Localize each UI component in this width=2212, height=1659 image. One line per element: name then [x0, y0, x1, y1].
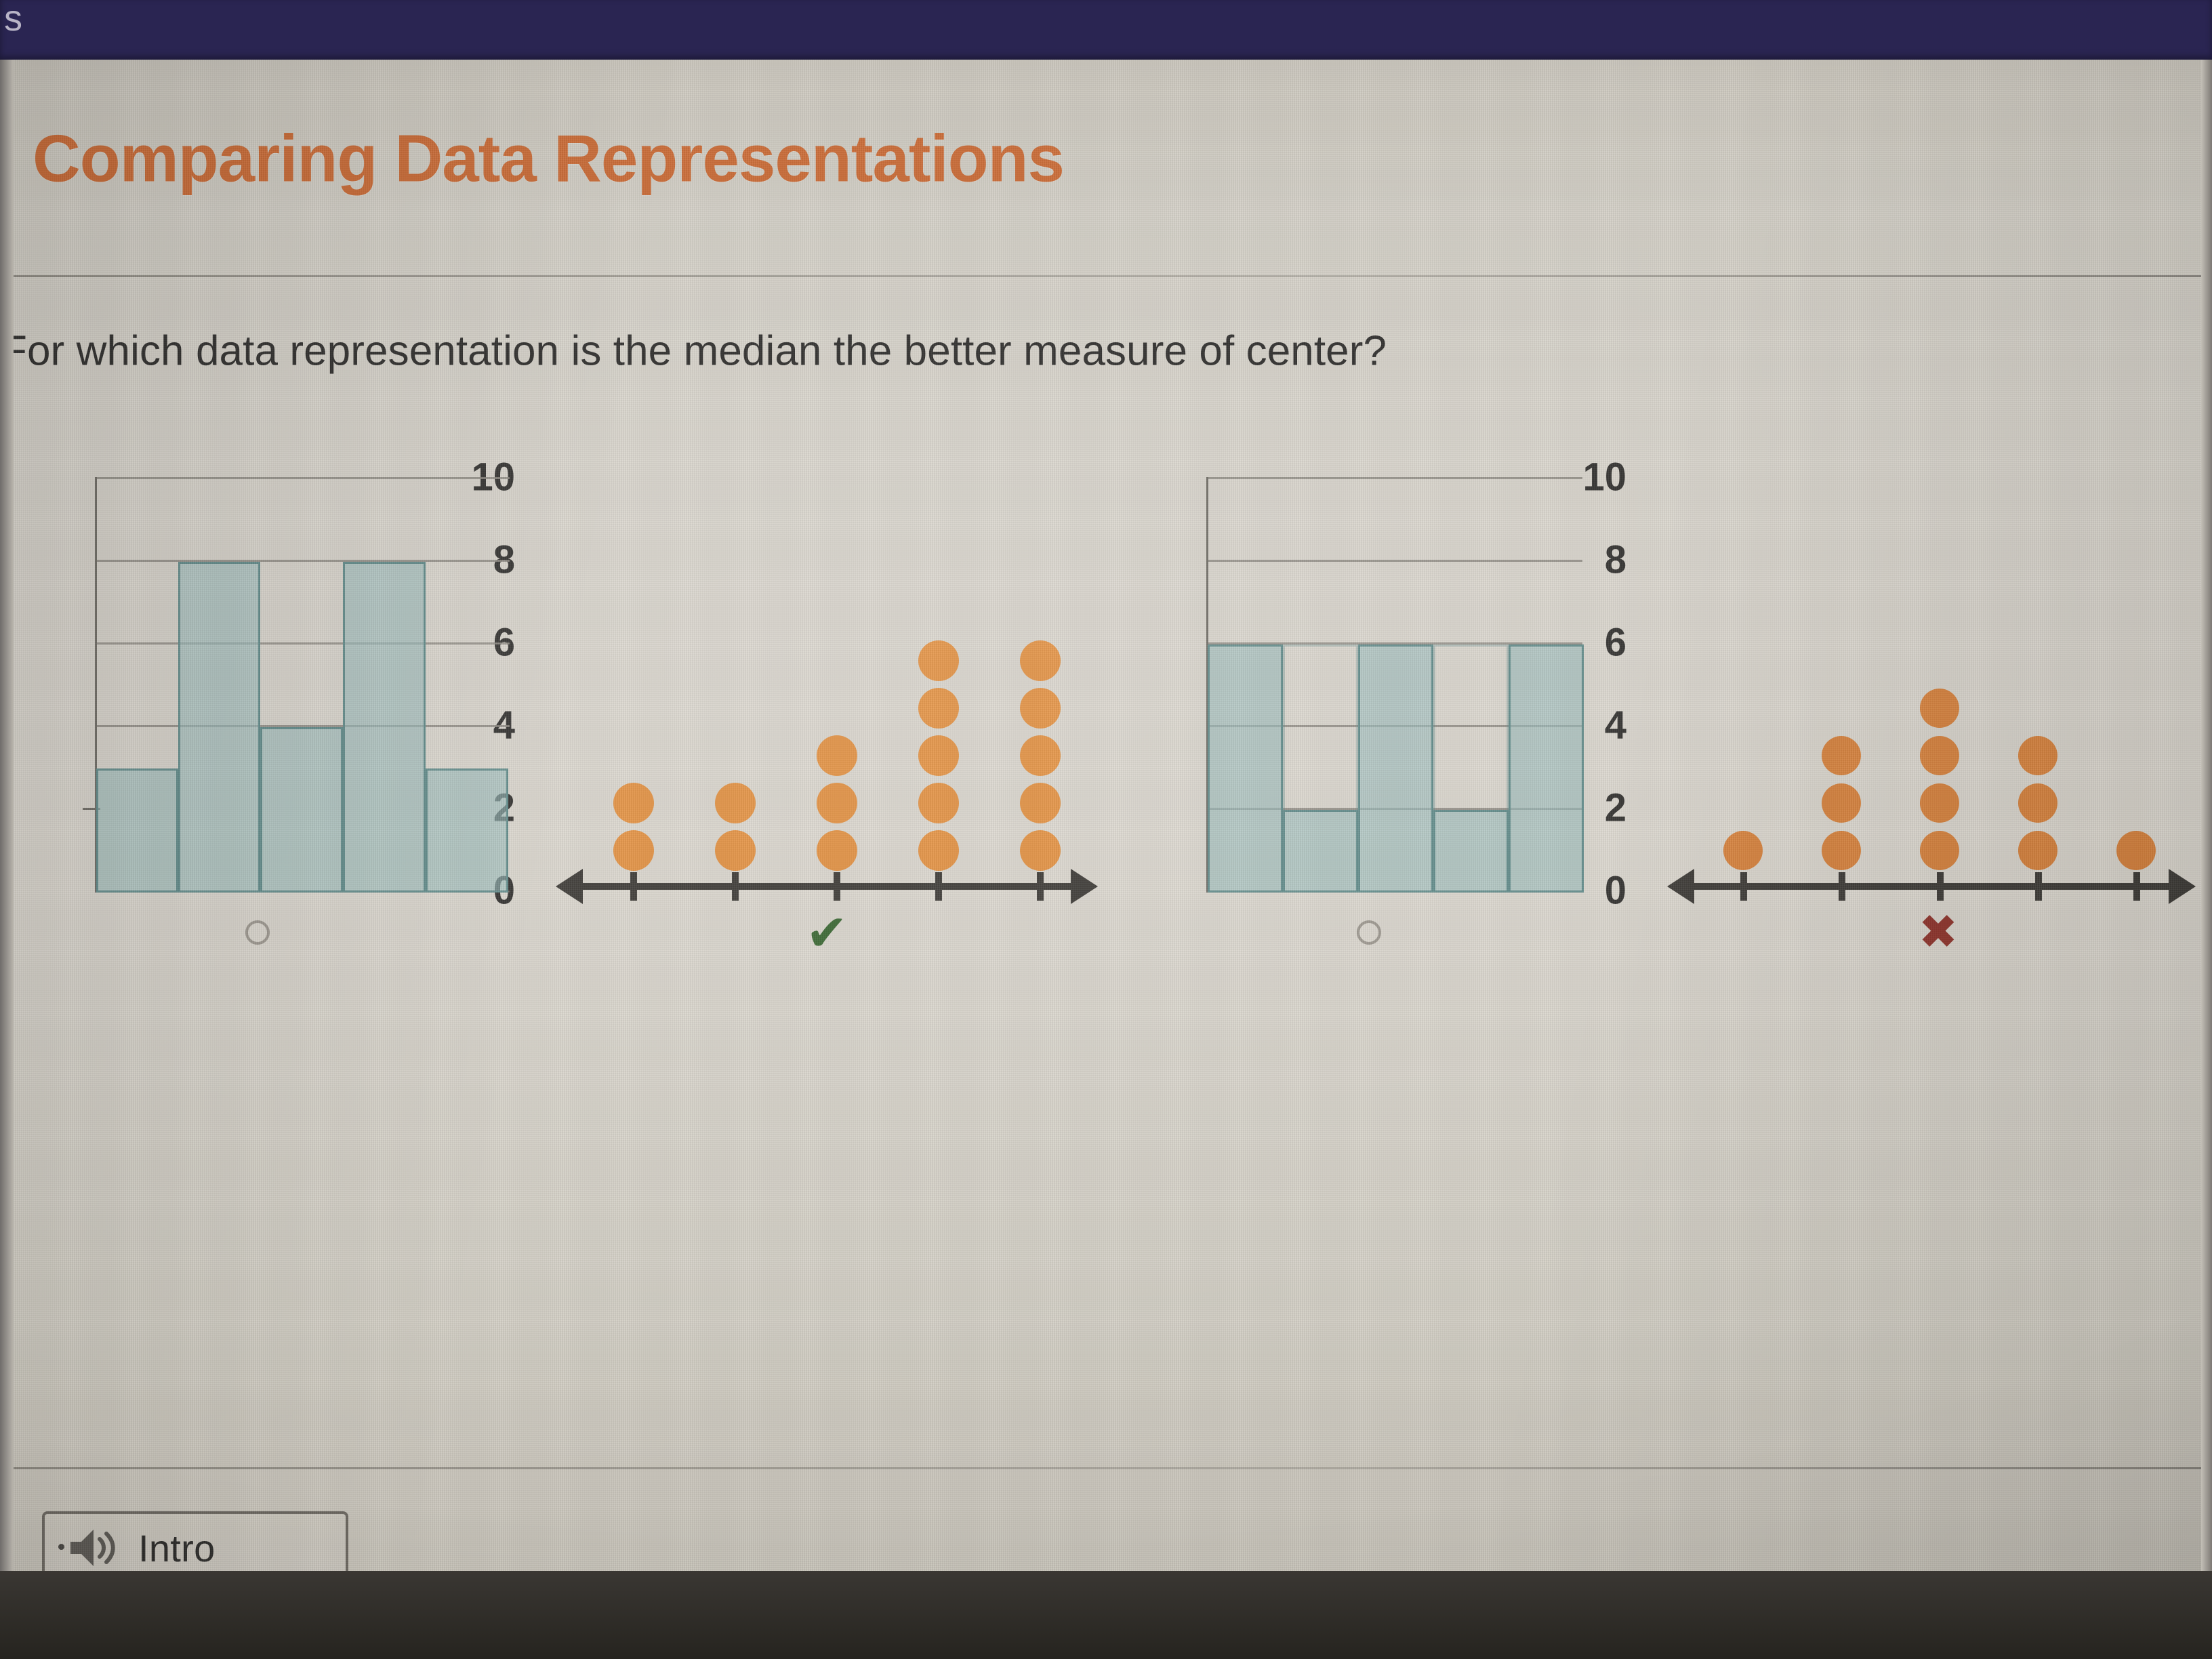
dot	[1822, 783, 1861, 823]
dot	[1020, 688, 1061, 729]
dot	[715, 830, 756, 871]
intro-button-focus-dot	[58, 1544, 64, 1550]
top-bar-glyph: s	[4, 0, 22, 39]
answer-option-histogram-2[interactable]: 10 8 6 4 2 0	[1111, 439, 1626, 1036]
histogram-bar-5	[426, 769, 508, 893]
number-line-tick-2	[732, 872, 739, 901]
dot	[1020, 783, 1061, 823]
number-line-tick-4	[2035, 872, 2042, 901]
dot	[2018, 736, 2057, 775]
histogram-bar-4	[343, 562, 426, 893]
dot	[817, 830, 857, 871]
option-marker-3[interactable]	[1111, 920, 1626, 948]
lesson-page: Comparing Data Representations For which…	[0, 60, 2212, 1571]
left-screen-edge	[0, 60, 14, 1571]
number-line-tick-4	[935, 872, 942, 901]
dot	[613, 783, 654, 823]
answer-option-dotplot-2[interactable]: ✖	[1667, 439, 2209, 1036]
option-marker-1[interactable]	[0, 920, 515, 948]
bottom-screen-bezel	[0, 1571, 2212, 1659]
dot	[1723, 831, 1763, 870]
question-text: For which data representation is the med…	[1, 327, 1387, 375]
histogram-bar-3	[260, 727, 343, 893]
dot	[2116, 831, 2156, 870]
gridline-6	[95, 642, 510, 644]
histogram-bar-2	[1283, 810, 1358, 893]
dot	[1822, 831, 1861, 870]
gridline-10	[95, 477, 510, 479]
dot	[1920, 783, 1959, 823]
gridline-10	[1206, 477, 1582, 479]
number-line-tick-3	[1937, 872, 1944, 901]
number-line-arrow-left	[556, 869, 583, 904]
dot	[2018, 831, 2057, 870]
dot	[613, 830, 654, 871]
dot	[817, 783, 857, 823]
number-line	[583, 883, 1071, 890]
photographed-screen: s Comparing Data Representations For whi…	[0, 0, 2212, 1659]
dot	[918, 735, 959, 776]
dot	[1920, 689, 1959, 728]
number-line-tick-2	[1839, 872, 1845, 901]
dot	[918, 640, 959, 681]
speaker-icon	[68, 1525, 121, 1570]
number-line-tick-5	[1037, 872, 1044, 901]
radio-button-icon[interactable]	[1357, 920, 1381, 945]
histogram-bar-1	[96, 769, 178, 893]
histogram-bar-3	[1358, 644, 1433, 893]
dot	[1020, 640, 1061, 681]
dot	[715, 783, 756, 823]
divider-under-title	[0, 275, 2212, 277]
title-bar: Comparing Data Representations	[0, 60, 2212, 217]
dot	[918, 783, 959, 823]
gridline-8	[1206, 560, 1582, 562]
number-line-tick-1	[1740, 872, 1747, 901]
number-line-arrow-right	[2169, 869, 2196, 904]
dot	[918, 688, 959, 729]
dot	[1920, 736, 1959, 775]
answer-option-histogram-1[interactable]: 10 8 6 4 2 0	[0, 439, 515, 1036]
option-marker-2[interactable]: ✔	[556, 908, 1098, 958]
dot	[1822, 736, 1861, 775]
number-line-tick-3	[834, 872, 840, 901]
right-screen-edge	[2201, 60, 2212, 1571]
histogram-bar-1	[1208, 644, 1283, 893]
number-line-arrow-right	[1071, 869, 1098, 904]
dotplot-1	[556, 439, 1098, 914]
dot	[1920, 831, 1959, 870]
option-marker-4[interactable]: ✖	[1667, 908, 2212, 956]
dot	[918, 830, 959, 871]
histogram-bar-4	[1433, 810, 1509, 893]
dot	[1020, 735, 1061, 776]
histogram-2: 10 8 6 4 2 0	[1111, 439, 1626, 914]
number-line-tick-5	[2133, 872, 2140, 901]
histogram-bar-2	[178, 562, 260, 893]
number-line-arrow-left	[1667, 869, 1694, 904]
answer-option-dotplot-1[interactable]: ✔	[556, 439, 1098, 1036]
intro-button[interactable]: Intro	[42, 1511, 348, 1571]
dot	[2018, 783, 2057, 823]
top-window-bar: s	[0, 0, 2212, 60]
dotplot-2	[1667, 439, 2209, 914]
page-title: Comparing Data Representations	[33, 121, 1064, 197]
histogram-1: 10 8 6 4 2 0	[0, 439, 515, 914]
check-icon: ✔	[806, 904, 848, 962]
dot	[1020, 830, 1061, 871]
histogram-bar-5	[1509, 644, 1584, 893]
footer-bar: Intro	[0, 1467, 2212, 1571]
number-line-tick-1	[630, 872, 637, 901]
gridline-8	[95, 560, 510, 562]
number-line	[1694, 883, 2169, 890]
answer-options: 10 8 6 4 2 0	[0, 439, 2212, 1036]
cross-icon: ✖	[1919, 904, 1959, 960]
dot	[817, 735, 857, 776]
intro-button-label: Intro	[138, 1526, 216, 1570]
radio-button-icon[interactable]	[245, 920, 270, 945]
